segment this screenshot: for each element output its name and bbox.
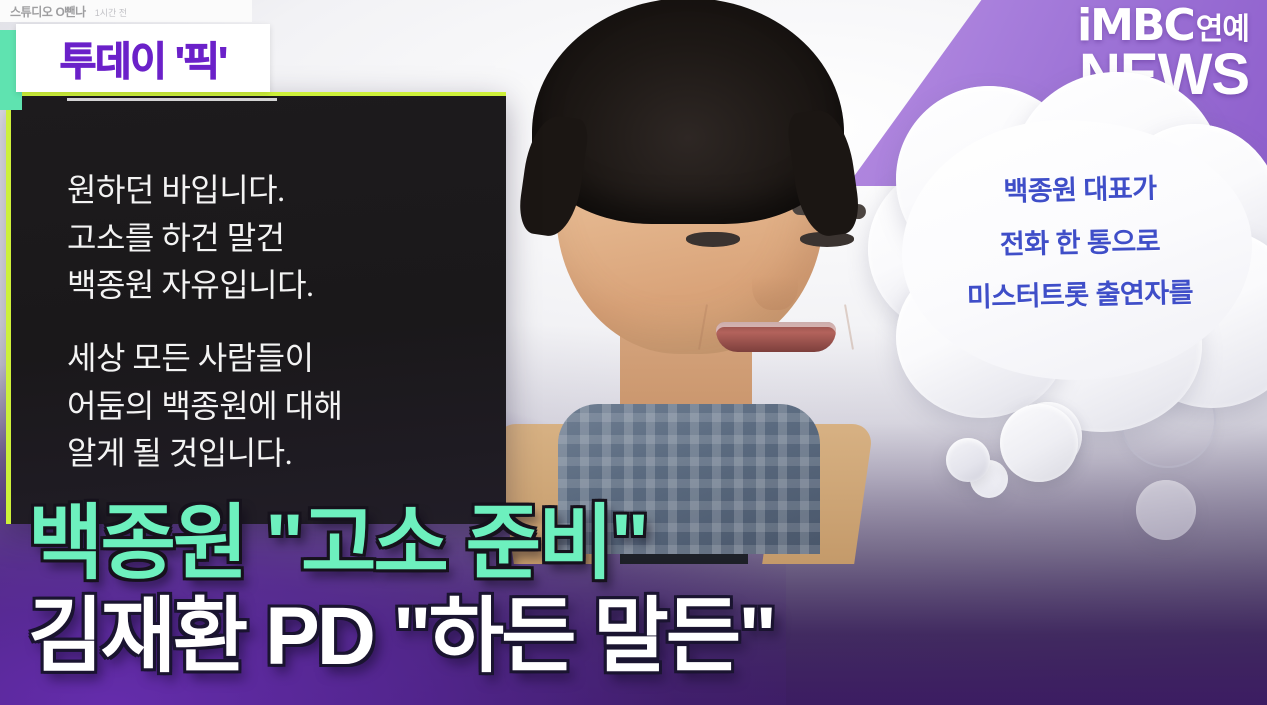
feed-channel-name: 스튜디오 O뺀나: [10, 3, 86, 20]
bubble-line-1: 백종원 대표가: [919, 161, 1240, 220]
quote-card: 원하던 바입니다. 고소를 하건 말건 백종원 자유입니다. 세상 모든 사람들…: [6, 92, 506, 524]
quote-card-text: 원하던 바입니다. 고소를 하건 말건 백종원 자유입니다. 세상 모든 사람들…: [67, 120, 488, 524]
decor-disc-main: [1000, 404, 1078, 482]
quote-paragraph-1: 원하던 바입니다. 고소를 하건 말건 백종원 자유입니다.: [67, 172, 314, 303]
headline-line-2: 김재환 PD "하든 말든": [28, 594, 1048, 681]
smile-line-left: [698, 304, 708, 350]
bubble-line-3: 미스터트롯 출연자를: [919, 266, 1240, 325]
feed-timestamp: 1시간 전: [95, 6, 127, 19]
headline-block: 백종원 "고소 준비" 김재환 PD "하든 말든": [28, 501, 1048, 681]
headline-line-1: 백종원 "고소 준비": [28, 501, 1048, 588]
thumbnail-canvas: iMBC 연예 NEWS 백종원 대표가 전화 한 통으로 미스터트롯 출연자를: [0, 0, 1267, 705]
quote-card-rule: [67, 98, 277, 101]
hair: [532, 0, 844, 224]
bubble-line-2: 전화 한 통으로: [919, 213, 1240, 272]
today-pick-badge: 투데이 '픽': [16, 24, 270, 92]
feed-header: 스튜디오 O뺀나 1시간 전: [10, 3, 127, 20]
bubble-text-block: 백종원 대표가 전화 한 통으로 미스터트롯 출연자를: [920, 164, 1240, 322]
eye-left: [686, 232, 740, 247]
decor-disc-small: [946, 438, 990, 482]
smile-line-right: [844, 304, 854, 350]
mouth: [716, 322, 836, 352]
nose: [752, 254, 798, 310]
person-portrait: [470, 0, 900, 552]
today-pick-label: 투데이 '픽': [60, 29, 227, 87]
quote-paragraph-2: 세상 모든 사람들이 어둠의 백종원에 대해 알게 될 것입니다.: [67, 335, 488, 477]
